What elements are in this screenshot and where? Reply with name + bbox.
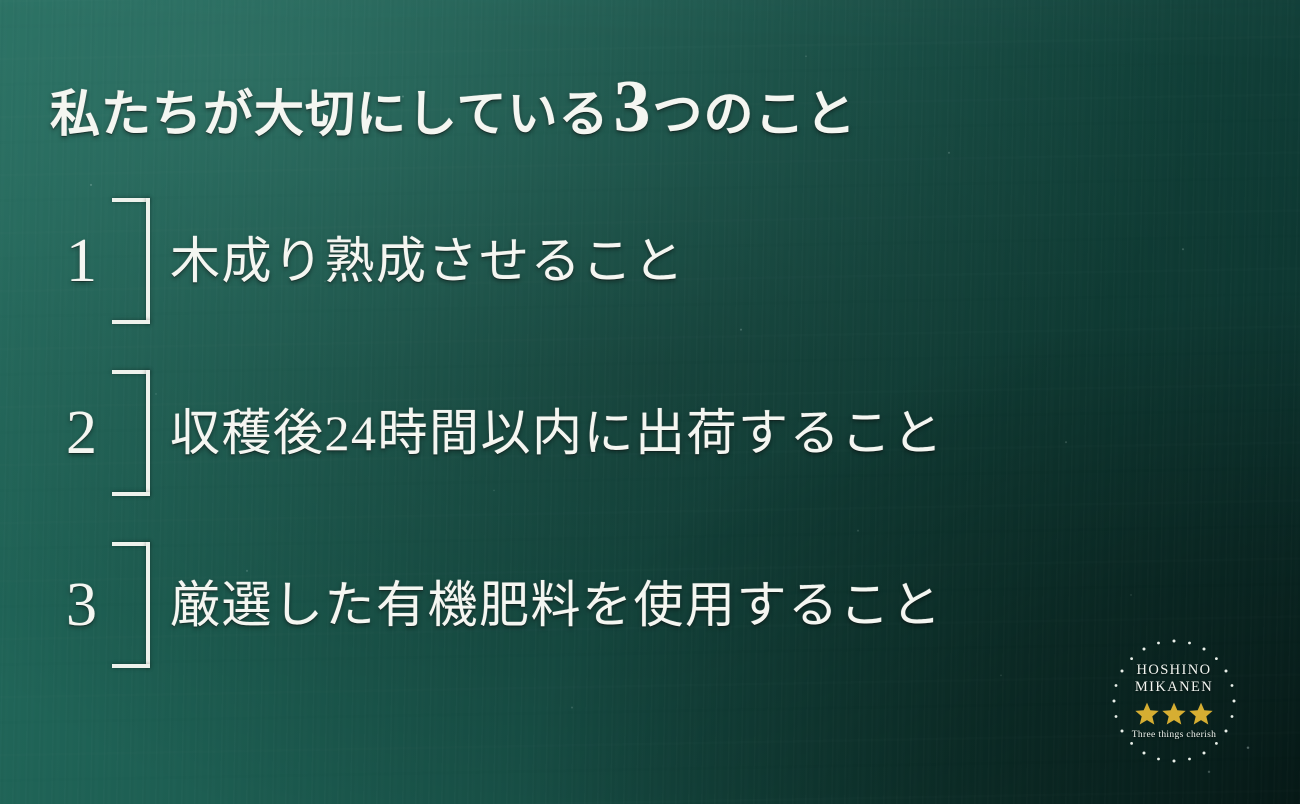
star-icon <box>1161 701 1187 726</box>
list-item-number-group: 3 <box>58 542 154 668</box>
list-item-number: 3 <box>66 574 97 636</box>
list-item-number-group: 1 <box>58 198 154 324</box>
list-item-label: 厳選した有機肥料を使用すること <box>170 580 943 630</box>
star-icon <box>1188 701 1214 726</box>
list-item-number: 1 <box>66 230 97 292</box>
list-item-label: 木成り熟成させること <box>170 236 685 286</box>
list-item-label: 収穫後24時間以内に出荷すること <box>170 408 944 458</box>
star-icon <box>1134 701 1160 726</box>
brand-name-line-2: MIKANEN <box>1135 679 1213 696</box>
brand-badge: HOSHINO MIKANEN Three things cherish <box>1110 637 1238 765</box>
square-bracket-icon <box>110 370 150 496</box>
page-title-lead: 私たちが大切にしている <box>50 89 610 139</box>
slide-canvas: 私たちが大切にしている 3 つのこと 1 木成り熟成させること 2 <box>0 0 1300 804</box>
star-rating <box>1134 701 1214 726</box>
page-title: 私たちが大切にしている 3 つのこと <box>50 77 857 139</box>
brand-tagline: Three things cherish <box>1132 730 1217 740</box>
list-item: 1 木成り熟成させること <box>58 196 1098 368</box>
square-bracket-icon <box>110 198 150 324</box>
square-bracket-icon <box>110 542 150 668</box>
list-item: 2 収穫後24時間以内に出荷すること <box>58 368 1098 540</box>
cherished-things-list: 1 木成り熟成させること 2 収穫後24時間以内に出荷すること <box>58 196 1098 712</box>
page-title-highlight-number: 3 <box>614 77 651 138</box>
list-item-number-group: 2 <box>58 370 154 496</box>
brand-name-line-1: HOSHINO <box>1135 662 1213 679</box>
list-item-number: 2 <box>66 402 97 464</box>
page-title-trail: つのこと <box>653 89 857 139</box>
brand-name: HOSHINO MIKANEN <box>1135 662 1213 696</box>
list-item: 3 厳選した有機肥料を使用すること <box>58 540 1098 712</box>
